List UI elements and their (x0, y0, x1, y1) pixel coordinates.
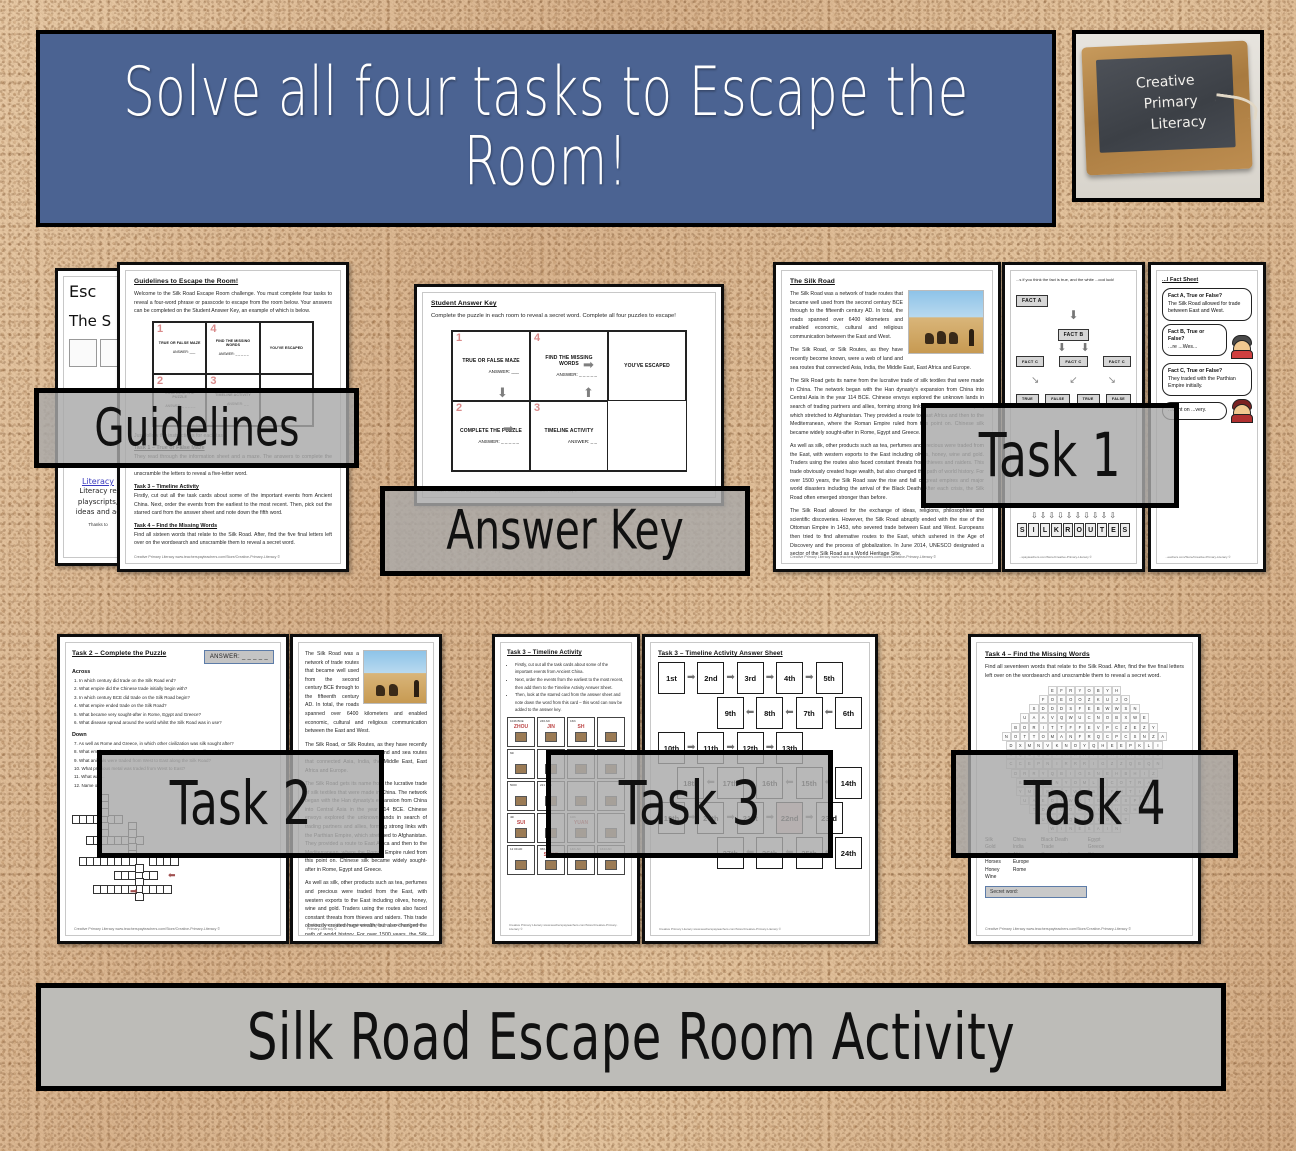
guidelines-key-cell-1: 1 TRUE OR FALSE MAZE ANSWER: ___ (153, 322, 206, 374)
task1-factsheet-title: ...l Fact Sheet (1162, 277, 1252, 283)
wordsearch-cell[interactable]: C (1112, 723, 1121, 732)
card-date: 5000 (508, 782, 534, 788)
task3-title: Task 3 – Timeline Activity (507, 650, 625, 656)
silk-road-title: The Silk Road (790, 278, 984, 285)
wordsearch-cell[interactable]: F (1075, 704, 1084, 713)
fact-question: Fact B, True or False? (1168, 329, 1204, 343)
wordsearch-cell[interactable]: D (1057, 704, 1066, 713)
wordsearch-cell[interactable]: X (1121, 713, 1130, 722)
wordsearch-cell[interactable]: O (1075, 695, 1084, 704)
wordsearch-row: EFRYOBYH (1048, 686, 1122, 695)
code-letter-cell: R (1063, 523, 1073, 537)
fact-c-box-3[interactable]: FACT C (1103, 356, 1131, 367)
timeline-task-card[interactable]: 6th (507, 749, 535, 779)
card-name: SUI (508, 820, 534, 826)
arrow-left-icon: ⬅ (785, 708, 793, 718)
header-banner: Solve all four tasks to Escape the Room! (36, 30, 1056, 227)
overlay-label-answer-key[interactable]: Answer Key (380, 486, 750, 576)
arrow-right-icon: ➡ (687, 673, 695, 683)
clue: 4. What empire ended trade on the Silk R… (74, 702, 274, 710)
wordsearch-cell[interactable]: H (1098, 741, 1107, 750)
timeline-box[interactable]: 6th (835, 697, 862, 729)
timeline-box[interactable]: 4th (776, 662, 803, 694)
answer-key-cell-1[interactable]: 1 TRUE OR FALSE MAZE ANSWER: ___ (452, 331, 530, 401)
card-illustration (515, 860, 527, 870)
timeline-row: 1st➡2nd➡3rd➡4th➡5th (658, 662, 862, 694)
wordsearch-cell[interactable]: Z (1149, 732, 1158, 741)
fact-b-box[interactable]: FACT B (1058, 329, 1090, 341)
wordsearch-cell[interactable]: T (1057, 723, 1066, 732)
timeline-box[interactable]: 14th (835, 767, 862, 799)
arrow-down-icon: ⬇ (1016, 309, 1131, 321)
silk-road-para-5: The Silk Road allowed for the exchange o… (790, 507, 984, 558)
silk-road-para-1: The Silk Road was a network of trade rou… (790, 290, 984, 341)
wordsearch-cell[interactable]: R (1029, 723, 1038, 732)
card-illustration (515, 732, 527, 742)
wordsearch-cell[interactable]: H (1112, 686, 1121, 695)
fact-a-box[interactable]: FACT A (1016, 295, 1048, 307)
wordsearch-cell[interactable]: I (1039, 723, 1048, 732)
guidelines-task3-text: Firstly, cut out all the task cards abou… (134, 492, 332, 518)
wordsearch-cell[interactable]: W (1130, 713, 1139, 722)
arrow-left-icon: ⬅ (746, 708, 754, 718)
task1-maze-intro: ...s if you think the fact is true, and … (1016, 277, 1131, 284)
guidelines-intro: Welcome to the Silk Road Escape Room cha… (134, 290, 332, 316)
timeline-box[interactable]: 3rd (737, 662, 764, 694)
clue: 3. In which century BCE did trade on the… (74, 694, 274, 702)
wordsearch-cell[interactable]: E (1057, 695, 1066, 704)
wordsearch-cell[interactable]: A (1039, 713, 1048, 722)
code-letter-cell: T (1097, 523, 1107, 537)
wordsearch-cell[interactable]: V (1048, 713, 1057, 722)
wordsearch-cell[interactable]: F (1075, 732, 1084, 741)
wordsearch-cell[interactable]: W (1112, 704, 1121, 713)
card-name: SH (568, 724, 594, 730)
word-list-item: Wine (985, 874, 1001, 882)
fact-answer: ...re ...Wes... (1168, 344, 1197, 350)
wordsearch-cell[interactable]: S (1130, 732, 1139, 741)
answer-key-sheet[interactable]: Student Answer Key Complete the puzzle i… (414, 284, 724, 506)
guidelines-key-cell-escaped: YOU'VE ESCAPED (260, 322, 313, 374)
wordsearch-row: SDDDSFEBWWSN (1029, 704, 1139, 713)
wordsearch-cell[interactable]: A (1158, 732, 1167, 741)
card-illustration (515, 828, 527, 838)
guidelines-title: Guidelines to Escape the Room! (134, 278, 332, 285)
wordsearch-cell[interactable]: O (1103, 713, 1112, 722)
wordsearch-cell[interactable]: E (1130, 723, 1139, 732)
wordsearch-cell[interactable]: P (1126, 741, 1135, 750)
wordsearch-cell[interactable]: Y (1075, 686, 1084, 695)
fact-answer: They traded with the Parthian Empire ini… (1168, 376, 1236, 390)
overlay-label-guidelines[interactable]: Guidelines (34, 388, 359, 468)
timeline-task-card[interactable]: 4thSUI (507, 813, 535, 843)
fact-answer: The Silk Road allowed for trade between … (1168, 301, 1240, 315)
wordsearch-cell[interactable]: K (1094, 695, 1103, 704)
wordsearch-cell[interactable]: I (1153, 741, 1162, 750)
silk-road-footer-credit: Creative Primary Literacy www.teacherspa… (790, 555, 984, 559)
code-letter-cell: S (1017, 523, 1027, 537)
wordsearch-row: DXMNVKNOYQHEEPKLI (1006, 741, 1162, 750)
key-label: TRUE OR FALSE MAZE (159, 341, 201, 345)
wordsearch-cell[interactable]: M (1048, 732, 1057, 741)
wordsearch-cell[interactable]: E (1048, 686, 1057, 695)
card-illustration (605, 732, 617, 742)
card-date: 6th (508, 750, 534, 756)
wordsearch-cell[interactable]: P (1103, 723, 1112, 732)
wordsearch-cell[interactable]: N (1140, 732, 1149, 741)
task3-instructions: Firstly, cut out all the task cards abou… (507, 661, 625, 713)
wordsearch-cell[interactable]: A (1029, 713, 1038, 722)
instruction: Firstly, cut out all the task cards abou… (515, 661, 625, 676)
key-number: 1 (157, 324, 163, 335)
task2-title: Task 2 – Complete the Puzzle (72, 650, 166, 657)
code-letter-cell: U (1085, 523, 1095, 537)
wordsearch-cell[interactable]: E (1117, 741, 1126, 750)
wordsearch-cell[interactable]: F (1039, 695, 1048, 704)
code-arrows: ⇩⇩⇩⇩⇩ ⇩⇩⇩⇩⇩ (1017, 511, 1130, 520)
card-date (598, 718, 624, 720)
arrow-down-right-icon: ⬇ (1081, 343, 1090, 354)
wordsearch-cell[interactable]: R (1066, 686, 1075, 695)
card-illustration (575, 732, 587, 742)
timeline-task-card[interactable]: 246 ADJIN (537, 717, 565, 747)
task3-answer-footer-credit: Creative Primary Literacy www.teacherspa… (659, 927, 861, 931)
guidelines-task4-text: Find all sixteen words that relate to th… (134, 531, 332, 548)
emperor-character-icon (1230, 399, 1252, 423)
fact-c-box-2[interactable]: FACT C (1059, 356, 1087, 367)
task4-footer-credit: Creative Primary Literacy www.teacherspa… (985, 927, 1184, 931)
answer-key-intro: Complete the puzzle in each room to reve… (431, 312, 707, 322)
fact-question: Fact A, True or False? (1168, 293, 1222, 299)
wordsearch-cell[interactable]: F (1066, 723, 1075, 732)
fact-bubble-a: Fact A, True or False? The Silk Road all… (1162, 288, 1252, 321)
fact-bubble-b: Fact B, True or False? ...re ...Wes... (1162, 324, 1227, 357)
timeline-task-card[interactable]: 12 09 AD (507, 845, 535, 875)
wordsearch-cell[interactable]: A (1057, 732, 1066, 741)
wordsearch-cell[interactable]: S (1121, 704, 1130, 713)
timeline-box[interactable]: 24th (835, 837, 862, 869)
fact-bubble-c: Fact C, True or False? They traded with … (1162, 363, 1252, 396)
wordsearch-cell[interactable]: Y (1103, 686, 1112, 695)
guidelines-key-cell-4: 4 FIND THE MISSING WORDS ANSWER: _ _ _ _… (206, 322, 259, 374)
guidelines-footer-credit: Creative Primary Literacy www.teacherspa… (134, 555, 332, 559)
timeline-box[interactable]: 2nd (697, 662, 724, 694)
timeline-task-card[interactable]: 16thSH (567, 717, 595, 747)
arrow-up-icon: ⬆ (583, 386, 594, 399)
crossword-cell[interactable] (135, 864, 144, 873)
maze-arrow-3: ↘ (1108, 375, 1116, 386)
wordsearch-cell[interactable]: F (1057, 686, 1066, 695)
arrow-right-icon: ➡ (766, 673, 774, 683)
key-label: YOU'VE ESCAPED (624, 363, 670, 369)
page-title: Solve all four tasks to Escape the Room! (70, 59, 1021, 197)
wordsearch-cell[interactable]: N (1034, 741, 1043, 750)
wordsearch-cell[interactable]: T (1020, 732, 1029, 741)
cover-thumb-1 (69, 339, 97, 367)
word-list-item: Horses (985, 859, 1001, 867)
wordsearch-row: BDRITTFFEVPCZEZY (1011, 723, 1158, 732)
wordsearch-row: FOEOOZKUJO (1039, 695, 1131, 704)
wordsearch-cell[interactable]: Q (1057, 713, 1066, 722)
timeline-box[interactable]: 5th (816, 662, 843, 694)
wordsearch-cell[interactable]: Z (1140, 723, 1149, 732)
wordsearch-cell[interactable]: T (1029, 732, 1038, 741)
guidelines-task4-heading: Task 4 – Find the Missing Words (134, 523, 332, 529)
answer-key-title: Student Answer Key (431, 300, 707, 307)
word-list-item: Honey (985, 867, 1001, 875)
secret-word-input[interactable]: Secret word: (985, 886, 1087, 898)
wordsearch-cell[interactable]: W (1066, 713, 1075, 722)
wordsearch-cell[interactable]: O (1071, 741, 1080, 750)
wordsearch-cell[interactable]: B (1112, 713, 1121, 722)
timeline-task-card[interactable] (597, 717, 625, 747)
task2-across-clues: 1. In which century did trade on the Sil… (72, 677, 274, 727)
wordsearch-cell[interactable]: T (1048, 723, 1057, 732)
wordsearch-cell[interactable]: U (1103, 695, 1112, 704)
overlay-label-task-4[interactable]: Task 4 (951, 750, 1238, 858)
key-number: 3 (210, 376, 216, 387)
wordsearch-cell[interactable]: Q (1089, 741, 1098, 750)
wordsearch-cell[interactable]: B (1011, 723, 1020, 732)
timeline-task-card[interactable]: 1046 BCEZHOU (507, 717, 535, 747)
clue: 1. In which century did trade on the Sil… (74, 677, 274, 685)
task3-footer-credit: Creative Primary Literacy www.teacherspa… (509, 923, 623, 931)
arrow-right-icon: ➡ (583, 358, 594, 371)
wordsearch-cell[interactable]: K (1052, 741, 1061, 750)
wordsearch-cell[interactable]: E (1140, 713, 1149, 722)
answer-key-cell-escaped: YOU'VE ESCAPED (608, 331, 686, 401)
key-number: 4 (534, 333, 540, 344)
wordsearch-cell[interactable]: U (1075, 713, 1084, 722)
wordsearch-cell[interactable]: O (1011, 732, 1020, 741)
card-date: 12 09 AD (508, 846, 534, 852)
wordsearch-cell[interactable]: D (1020, 723, 1029, 732)
task1-maze-footer-credit: ...spayteachers.com/Store/Creative-Prima… (1019, 555, 1128, 559)
timeline-box[interactable]: 7th (796, 697, 823, 729)
overlay-label-task-3[interactable]: Task 3 (546, 750, 833, 858)
logo-line-3: Literacy (1126, 112, 1207, 138)
arrow-right-icon: ➡ (805, 673, 813, 683)
wordsearch-cell[interactable]: M (1025, 741, 1034, 750)
key-label: TRUE OR FALSE MAZE (462, 358, 519, 364)
wordsearch-cell[interactable]: R (1085, 732, 1094, 741)
wordsearch-cell[interactable]: N (1094, 713, 1103, 722)
key-answer: ANSWER: ___ (489, 369, 519, 374)
wordsearch-cell[interactable]: Z (1085, 695, 1094, 704)
wordsearch-cell[interactable]: J (1112, 695, 1121, 704)
wordsearch-cell[interactable]: V (1043, 741, 1052, 750)
footer-banner: Silk Road Escape Room Activity (36, 983, 1226, 1091)
arrow-down-left-icon: ⬇ (1057, 343, 1066, 354)
overlay-label-task-2[interactable]: Task 2 (97, 750, 384, 858)
timeline-box[interactable]: 1st (658, 662, 685, 694)
clue: 6. What disease spread around the world … (74, 719, 274, 727)
code-letter-cell: I (1028, 523, 1038, 537)
crossword-arrow-right-icon: ➡ (130, 886, 138, 897)
key-answer: ANSWER: ___ (173, 350, 195, 354)
key-number: 2 (157, 376, 163, 387)
wordsearch-cell[interactable]: N (1062, 741, 1071, 750)
card-name: JIN (538, 724, 564, 730)
wordsearch-cell[interactable]: Y (1080, 741, 1089, 750)
overlay-label-task-1[interactable]: Task 1 (921, 403, 1179, 508)
task4-title: Task 4 – Find the Missing Words (985, 651, 1184, 658)
wordsearch-cell[interactable]: P (1112, 732, 1121, 741)
card-name: ZHOU (508, 724, 534, 730)
card-illustration (605, 860, 617, 870)
key-answer: ANSWER: _ _ _ _ _ (556, 372, 597, 377)
answer-key-cell-2[interactable]: 2 COMPLETE THE PUZZLE ANSWER: _ _ _ _ _ (452, 401, 530, 471)
wordsearch-cell[interactable]: W (1103, 704, 1112, 713)
wordsearch-cell[interactable]: S (1066, 704, 1075, 713)
wordsearch-cell[interactable]: D (1048, 704, 1057, 713)
card-illustration (575, 860, 587, 870)
timeline-row: 9th⬅8th⬅7th⬅6th (658, 697, 862, 729)
wordsearch-cell[interactable]: U (1020, 713, 1029, 722)
key-label: TIMELINE ACTIVITY (544, 428, 593, 434)
wordsearch-cell[interactable]: B (1094, 704, 1103, 713)
wordsearch-cell[interactable]: E (1085, 723, 1094, 732)
key-label: YOU'VE ESCAPED (270, 346, 303, 350)
wordsearch-cell[interactable]: D (1039, 704, 1048, 713)
key-label: FIND THE MISSING WORDS (211, 339, 254, 347)
key-number: 4 (210, 324, 216, 335)
chinese-lady-character-icon (1230, 335, 1252, 359)
wordsearch-cell[interactable]: O (1066, 695, 1075, 704)
guidelines-task3-heading: Task 3 – Timeline Activity (134, 484, 332, 490)
task2-across-heading: Across (72, 669, 274, 675)
wordsearch-cell[interactable]: N (1066, 732, 1075, 741)
wordsearch-cell[interactable]: O (1085, 686, 1094, 695)
timeline-box[interactable]: 8th (756, 697, 783, 729)
card-illustration (515, 796, 527, 806)
answer-key-cell-blank (608, 401, 686, 471)
task2-copy-footer-credit: Creative Primary Literacy www.teacherspa… (307, 923, 425, 931)
wordsearch-cell[interactable]: O (1048, 695, 1057, 704)
code-letter-cell: S (1120, 523, 1130, 537)
clue: 2. What empire did the Chinese trade ini… (74, 685, 274, 693)
wordsearch-cell[interactable]: O (1121, 695, 1130, 704)
answer-key-cell-4[interactable]: 4 FIND THE MISSING WORDS ANSWER: _ _ _ _… (530, 331, 608, 401)
wordsearch-cell[interactable]: C (1121, 732, 1130, 741)
clue: 5. What became very sought-after in Rome… (74, 711, 274, 719)
timeline-task-card[interactable]: 5000 (507, 781, 535, 811)
word-list-item: Rome (1013, 867, 1029, 875)
crossword-cell[interactable] (163, 885, 172, 894)
footer-title: Silk Road Escape Room Activity (247, 1000, 1015, 1074)
code-letter-cell: E (1108, 523, 1118, 537)
arrow-left-icon: ⬅ (825, 708, 833, 718)
instruction: Then, look at the starred card from the … (515, 691, 625, 713)
card-illustration (545, 860, 557, 870)
fact-question: Fact C, True or False? (1168, 368, 1222, 374)
key-answer: ANSWER: _ _ _ _ _ (219, 352, 249, 356)
wordsearch-cell[interactable]: V (1094, 723, 1103, 732)
card-illustration (515, 764, 527, 774)
wordsearch-cell[interactable]: X (1016, 741, 1025, 750)
silk-road-para-1-copy: The Silk Road was a network of trade rou… (305, 650, 427, 736)
crossword-arrow-left-icon: ⬅ (168, 870, 176, 881)
key-number: 1 (456, 333, 462, 344)
word-list-item: Europe (1013, 859, 1029, 867)
task2-footer-credit: Creative Primary Literacy www.teacherspa… (74, 927, 272, 931)
task2-down-heading: Down (72, 732, 274, 738)
maze-arrow-2: ↙ (1069, 375, 1077, 386)
fact-c-box-1[interactable]: FACT C (1016, 356, 1044, 367)
task2-answer-box[interactable]: ANSWER: _ _ _ _ _ (204, 650, 274, 664)
task1-factsheet-footer-credit: ...eachers.com/Store/Creative-Primary-Li… (1165, 555, 1249, 559)
arrow-right-icon: ➡ (726, 673, 734, 683)
key-number: 2 (456, 403, 462, 414)
key-number: 3 (534, 403, 540, 414)
card-illustration (545, 732, 557, 742)
clue: 7. As well as Rome and Greece, in which … (74, 740, 274, 748)
key-answer: ANSWER: _ _ (568, 439, 597, 444)
wordsearch-cell[interactable]: N (1002, 732, 1011, 741)
code-letter-cell: L (1040, 523, 1050, 537)
task3-answer-sheet-title: Task 3 – Timeline Activity Answer Sheet (658, 650, 862, 657)
wordsearch-cell[interactable]: L (1144, 741, 1153, 750)
key-answer: ANSWER: _ _ _ _ _ (478, 439, 519, 444)
wordsearch-cell[interactable]: C (1103, 732, 1112, 741)
code-letter-cell: O (1074, 523, 1084, 537)
wordsearch-cell[interactable]: E (1085, 704, 1094, 713)
wordsearch-cell[interactable]: N (1130, 704, 1139, 713)
instruction: Next, order the events from the earliest… (515, 676, 625, 691)
silk-road-para-2: The Silk Road, or Silk Routes, as they h… (790, 346, 984, 372)
answer-key-cell-3[interactable]: 3 TIMELINE ACTIVITY ANSWER: _ _ (530, 401, 608, 471)
wordsearch-cell[interactable]: S (1029, 704, 1038, 713)
wordsearch-row: UAAVQWUCNOBXWE (1020, 713, 1149, 722)
wordsearch-cell[interactable]: Y (1149, 723, 1158, 732)
wordsearch-cell[interactable]: F (1075, 723, 1084, 732)
wordsearch-cell[interactable]: C (1085, 713, 1094, 722)
wordsearch-cell[interactable]: Z (1121, 723, 1130, 732)
wordsearch-cell[interactable]: Q (1094, 732, 1103, 741)
wordsearch-cell[interactable]: O (1039, 732, 1048, 741)
arrow-down-icon: ⬇ (497, 386, 508, 399)
wordsearch-cell[interactable]: D (1006, 741, 1015, 750)
wordsearch-row: NOTTOMANFRQCPCSNZA (1002, 732, 1167, 741)
wordsearch-cell[interactable]: E (1107, 741, 1116, 750)
wordsearch-cell[interactable]: K (1135, 741, 1144, 750)
maze-arrow-1: ↘ (1031, 375, 1039, 386)
timeline-box[interactable]: 9th (717, 697, 744, 729)
crossword-cell[interactable] (149, 871, 158, 880)
code-letter-cell: K (1051, 523, 1061, 537)
arrow-right-icon-2: ➡ (503, 422, 514, 435)
silk-routes-code: SILKROUTES (1017, 523, 1130, 537)
brand-logo: Creative Primary Literacy (1072, 30, 1264, 202)
wordsearch-cell[interactable]: B (1094, 686, 1103, 695)
task4-instructions: Find all seventeen words that relate to … (985, 663, 1184, 681)
